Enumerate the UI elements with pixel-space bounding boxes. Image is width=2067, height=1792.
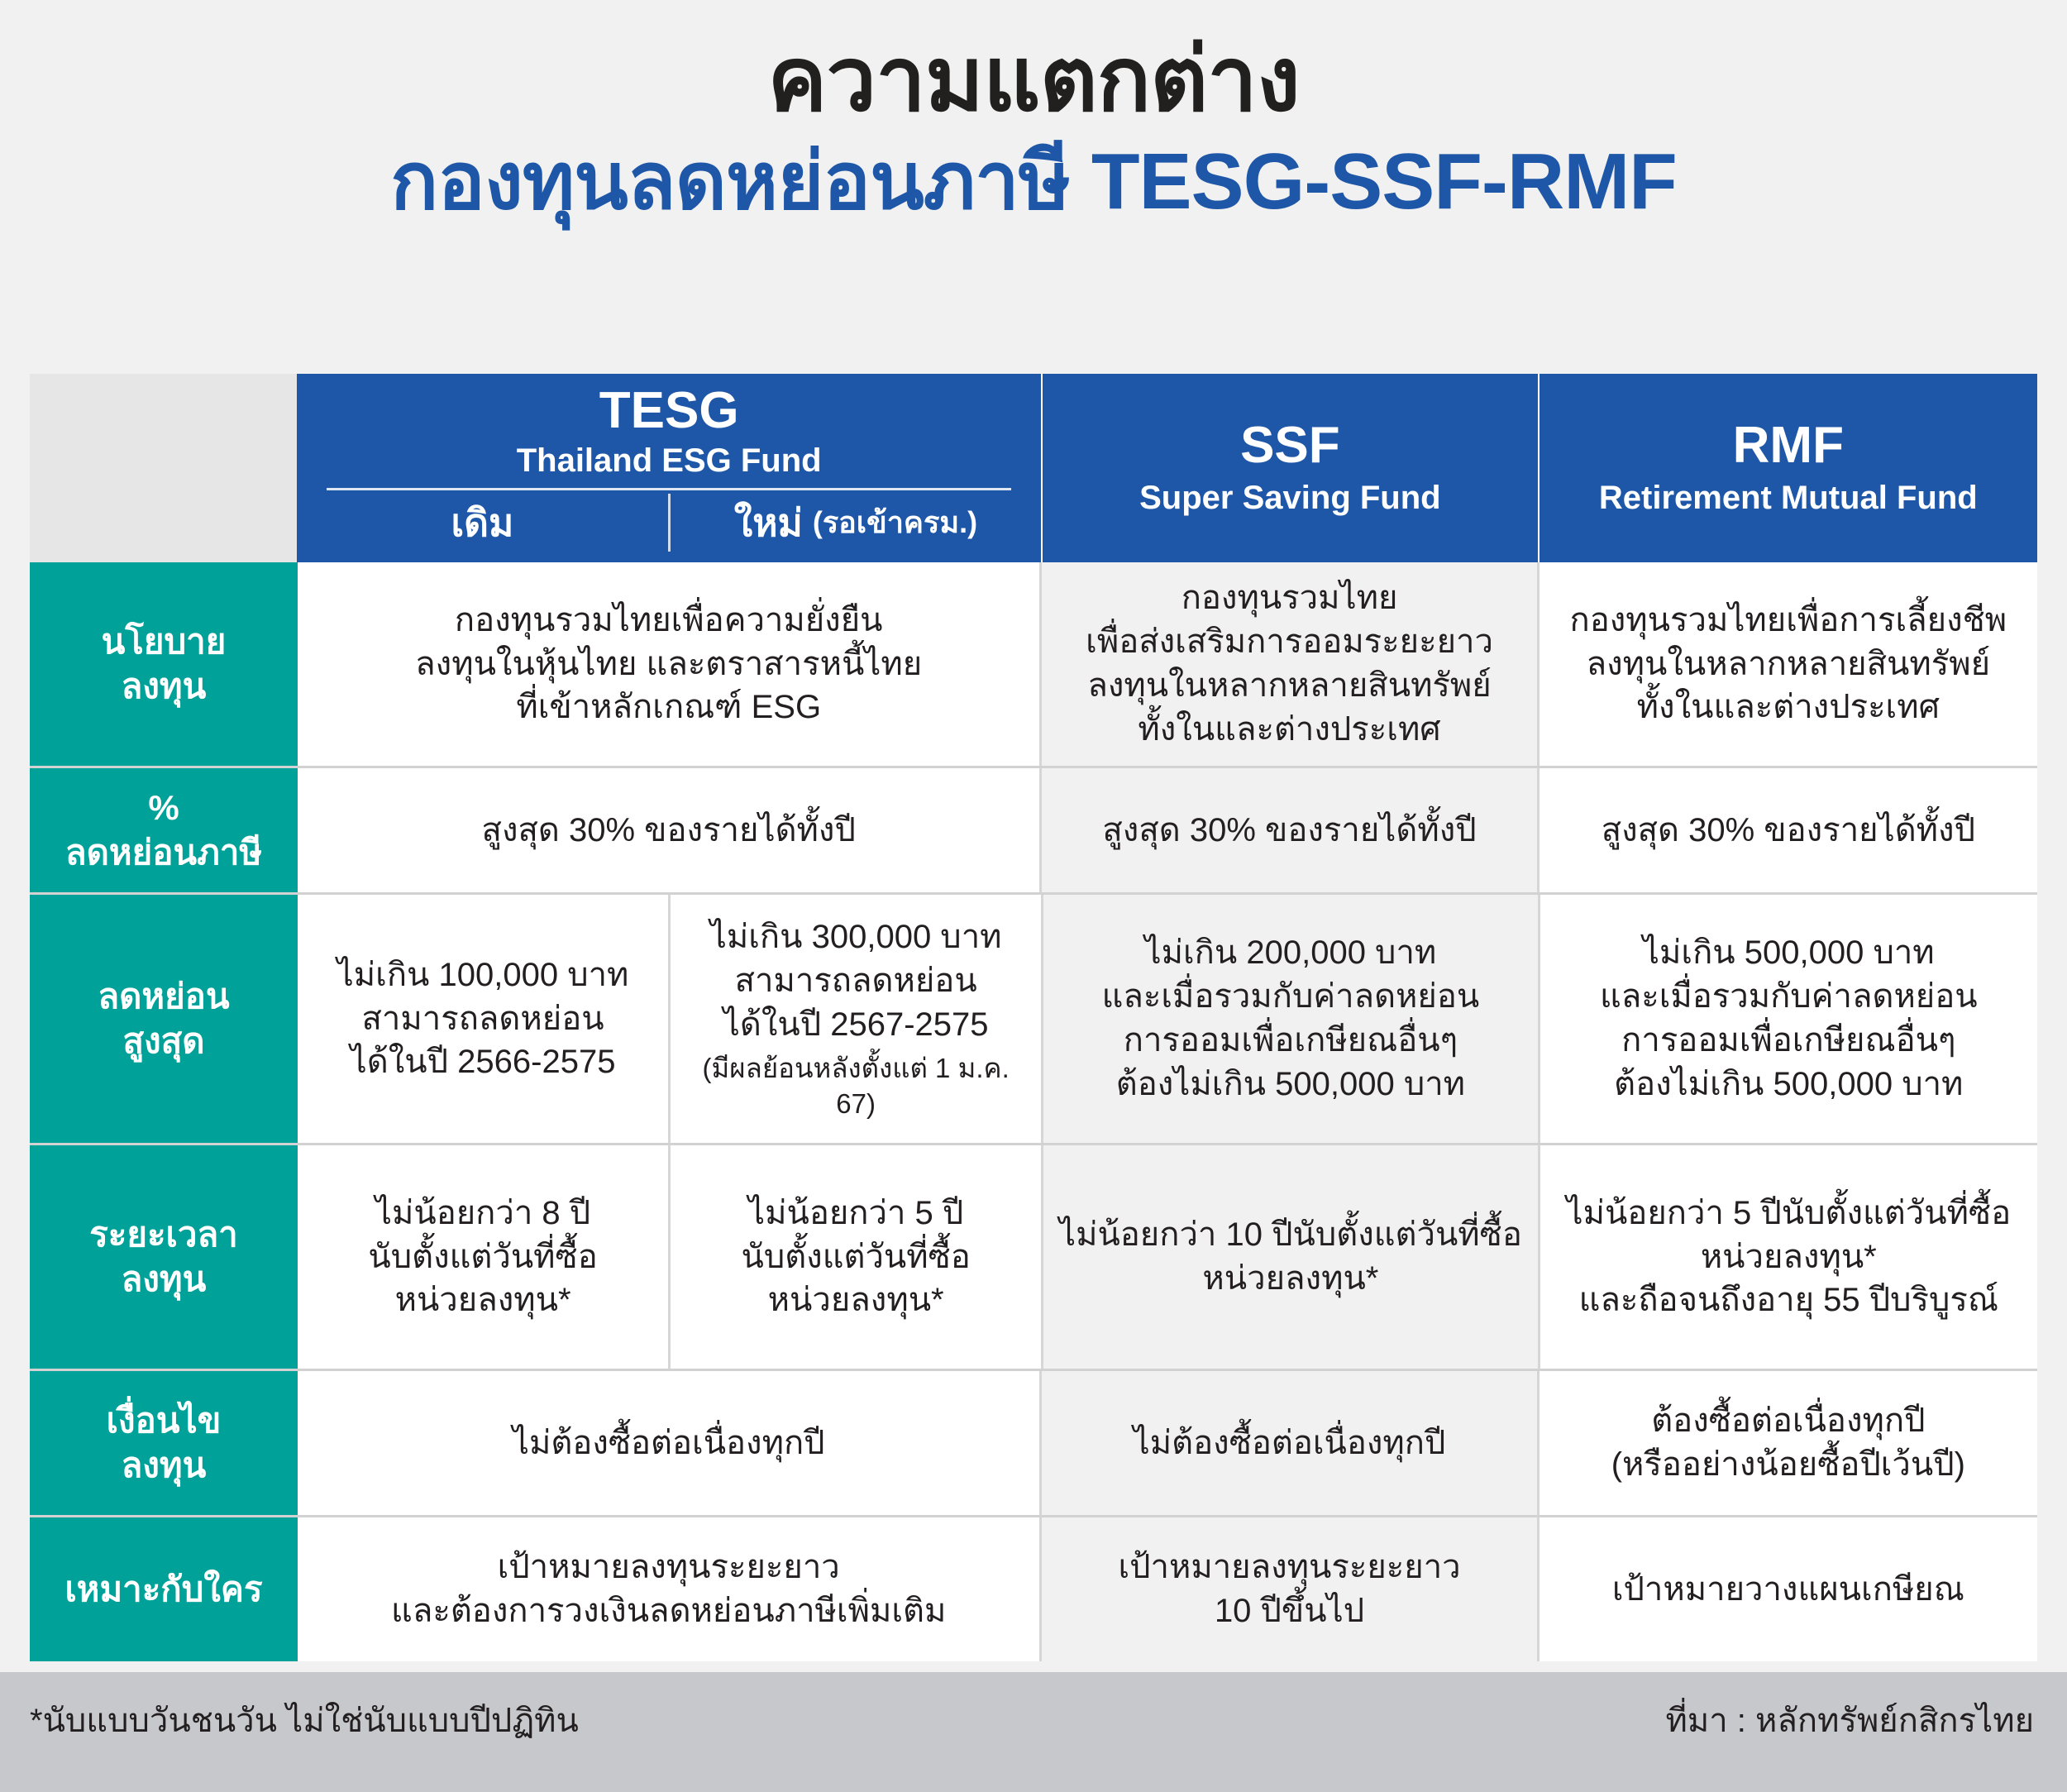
- tesg-subcol-divider: [668, 494, 671, 552]
- table-row: ระยะเวลา ลงทุน ไม่น้อยกว่า 8 ปี นับตั้งแ…: [30, 1143, 2037, 1369]
- cell-ssf-policy: กองทุนรวมไทย เพื่อส่งเสริมการออมระยะยาว …: [1042, 562, 1536, 766]
- cell-ssf-percent: สูงสุด 30% ของรายได้ทั้งปี: [1042, 768, 1536, 892]
- cell-tesg-percent: สูงสุด 30% ของรายได้ทั้งปี: [298, 768, 1039, 892]
- ssf-code: SSF: [1240, 418, 1340, 472]
- cell-rmf-period: ไม่น้อยกว่า 5 ปีนับตั้งแต่วันที่ซื้อ หน่…: [1540, 1145, 2037, 1369]
- cell-rmf-max-deduction: ไม่เกิน 500,000 บาท และเมื่อรวมกับค่าลดห…: [1540, 895, 2037, 1143]
- page-subtitle: กองทุนลดหย่อนภาษี TESG-SSF-RMF: [0, 135, 2067, 228]
- cell-ssf-period: ไม่น้อยกว่า 10 ปีนับตั้งแต่วันที่ซื้อ หน…: [1043, 1145, 1537, 1369]
- row-label-tax-deduction-percent: % ลดหย่อนภาษี: [30, 768, 298, 892]
- cell-rmf-policy: กองทุนรวมไทยเพื่อการเลี้ยงชีพ ลงทุนในหลา…: [1540, 562, 2037, 766]
- row-cells: ไม่ต้องซื้อต่อเนื่องทุกปี ไม่ต้องซื้อต่อ…: [298, 1371, 2037, 1515]
- table-row: เหมาะกับใคร เป้าหมายลงทุนระยะยาว และต้อง…: [30, 1515, 2037, 1661]
- row-label-line2: สูงสุด: [98, 1019, 229, 1063]
- cell-ssf-condition: ไม่ต้องซื้อต่อเนื่องทุกปี: [1042, 1371, 1536, 1515]
- row-cells: ไม่เกิน 100,000 บาท สามารถลดหย่อน ได้ในป…: [298, 895, 2037, 1143]
- row-cells: กองทุนรวมไทยเพื่อความยั่งยืน ลงทุนในหุ้น…: [298, 562, 2037, 766]
- footnote-text: *นับแบบวันชนวัน ไม่ใช่นับแบบปีปฏิทิน: [30, 1694, 579, 1747]
- page-title: ความแตกต่าง: [0, 30, 2067, 130]
- cell-tesg-condition: ไม่ต้องซื้อต่อเนื่องทุกปี: [298, 1371, 1039, 1515]
- tesg-subcolumn-headers: เดิม ใหม่ (รอเข้าครม.): [297, 494, 1041, 552]
- row-label-investment-policy: นโยบาย ลงทุน: [30, 562, 298, 766]
- cell-tesg-new-max-deduction: ไม่เกิน 300,000 บาท สามารถลดหย่อน ได้ในป…: [671, 895, 1041, 1143]
- column-header-rmf: RMF Retirement Mutual Fund: [1540, 374, 2037, 562]
- row-label-line2: ลงทุน: [102, 664, 227, 709]
- infographic-page: ความแตกต่าง กองทุนลดหย่อนภาษี TESG-SSF-R…: [0, 0, 2067, 1792]
- rmf-fullname: Retirement Mutual Fund: [1599, 478, 1978, 518]
- cell-rmf-condition: ต้องซื้อต่อเนื่องทุกปี (หรืออย่างน้อยซื้…: [1540, 1371, 2037, 1515]
- source-text: ที่มา : หลักทรัพย์กสิกรไทย: [1665, 1694, 2034, 1747]
- row-label-line1: %: [65, 786, 262, 830]
- row-label-suitable-for: เหมาะกับใคร: [30, 1517, 298, 1661]
- row-label-line1: นโยบาย: [102, 619, 227, 664]
- row-label-line1: เงื่อนไข: [107, 1398, 222, 1443]
- row-label-line2: ลงทุน: [89, 1257, 238, 1302]
- row-label-line1: ลดหย่อน: [98, 974, 229, 1019]
- comparison-table: TESG Thailand ESG Fund เดิม ใหม่ (รอเข้า…: [30, 374, 2037, 1661]
- tesg-fullname: Thailand ESG Fund: [517, 440, 822, 481]
- rmf-code: RMF: [1733, 418, 1844, 472]
- table-header-row: TESG Thailand ESG Fund เดิม ใหม่ (รอเข้า…: [30, 374, 2037, 562]
- cell-ssf-max-deduction: ไม่เกิน 200,000 บาท และเมื่อรวมกับค่าลดห…: [1043, 895, 1537, 1143]
- cell-footnote: (มีผลย้อนหลังตั้งแต่ 1 ม.ค. 67): [685, 1051, 1026, 1122]
- row-label-line1: ระยะเวลา: [89, 1212, 238, 1257]
- row-cells: เป้าหมายลงทุนระยะยาว และต้องการวงเงินลดห…: [298, 1517, 2037, 1661]
- table-row: ลดหย่อน สูงสุด ไม่เกิน 100,000 บาท สามาร…: [30, 892, 2037, 1143]
- row-label-max-deduction: ลดหย่อน สูงสุด: [30, 895, 298, 1143]
- cell-main-text: ไม่เกิน 300,000 บาท สามารถลดหย่อน ได้ในป…: [685, 915, 1026, 1046]
- table-row: % ลดหย่อนภาษี สูงสุด 30% ของรายได้ทั้งปี…: [30, 766, 2037, 892]
- row-cells: สูงสุด 30% ของรายได้ทั้งปี สูงสุด 30% ขอ…: [298, 768, 2037, 892]
- tesg-subcol-new-note: (รอเข้าครม.): [813, 508, 977, 538]
- row-label-line2: ลดหย่อนภาษี: [65, 830, 262, 875]
- table-row: เงื่อนไข ลงทุน ไม่ต้องซื้อต่อเนื่องทุกปี…: [30, 1369, 2037, 1515]
- ssf-fullname: Super Saving Fund: [1139, 478, 1440, 518]
- tesg-subcol-old: เดิม: [297, 494, 668, 552]
- footer-bar: *นับแบบวันชนวัน ไม่ใช่นับแบบปีปฏิทิน ที่…: [0, 1672, 2067, 1792]
- row-cells: ไม่น้อยกว่า 8 ปี นับตั้งแต่วันที่ซื้อ หน…: [298, 1145, 2037, 1369]
- tesg-subcol-new: ใหม่ (รอเข้าครม.): [671, 494, 1042, 552]
- row-label-line2: ลงทุน: [107, 1443, 222, 1488]
- header-corner-spacer: [30, 374, 297, 562]
- cell-tesg-suitable: เป้าหมายลงทุนระยะยาว และต้องการวงเงินลดห…: [298, 1517, 1039, 1661]
- tesg-divider-rule: [327, 488, 1011, 490]
- tesg-subcol-new-label: ใหม่: [734, 504, 803, 542]
- cell-rmf-suitable: เป้าหมายวางแผนเกษียณ: [1540, 1517, 2037, 1661]
- title-block: ความแตกต่าง กองทุนลดหย่อนภาษี TESG-SSF-R…: [0, 0, 2067, 228]
- cell-tesg-old-period: ไม่น้อยกว่า 8 ปี นับตั้งแต่วันที่ซื้อ หน…: [298, 1145, 668, 1369]
- cell-ssf-suitable: เป้าหมายลงทุนระยะยาว 10 ปีขึ้นไป: [1042, 1517, 1536, 1661]
- table-row: นโยบาย ลงทุน กองทุนรวมไทยเพื่อความยั่งยื…: [30, 562, 2037, 766]
- tesg-code: TESG: [599, 385, 739, 437]
- row-label-investment-condition: เงื่อนไข ลงทุน: [30, 1371, 298, 1515]
- cell-tesg-new-period: ไม่น้อยกว่า 5 ปี นับตั้งแต่วันที่ซื้อ หน…: [671, 1145, 1041, 1369]
- cell-tesg-policy: กองทุนรวมไทยเพื่อความยั่งยืน ลงทุนในหุ้น…: [298, 562, 1039, 766]
- row-label-investment-period: ระยะเวลา ลงทุน: [30, 1145, 298, 1369]
- row-label-line1: เหมาะกับใคร: [64, 1567, 262, 1612]
- cell-rmf-percent: สูงสุด 30% ของรายได้ทั้งปี: [1540, 768, 2037, 892]
- cell-tesg-old-max-deduction: ไม่เกิน 100,000 บาท สามารถลดหย่อน ได้ในป…: [298, 895, 668, 1143]
- column-header-tesg: TESG Thailand ESG Fund เดิม ใหม่ (รอเข้า…: [297, 374, 1041, 562]
- column-header-ssf: SSF Super Saving Fund: [1043, 374, 1537, 562]
